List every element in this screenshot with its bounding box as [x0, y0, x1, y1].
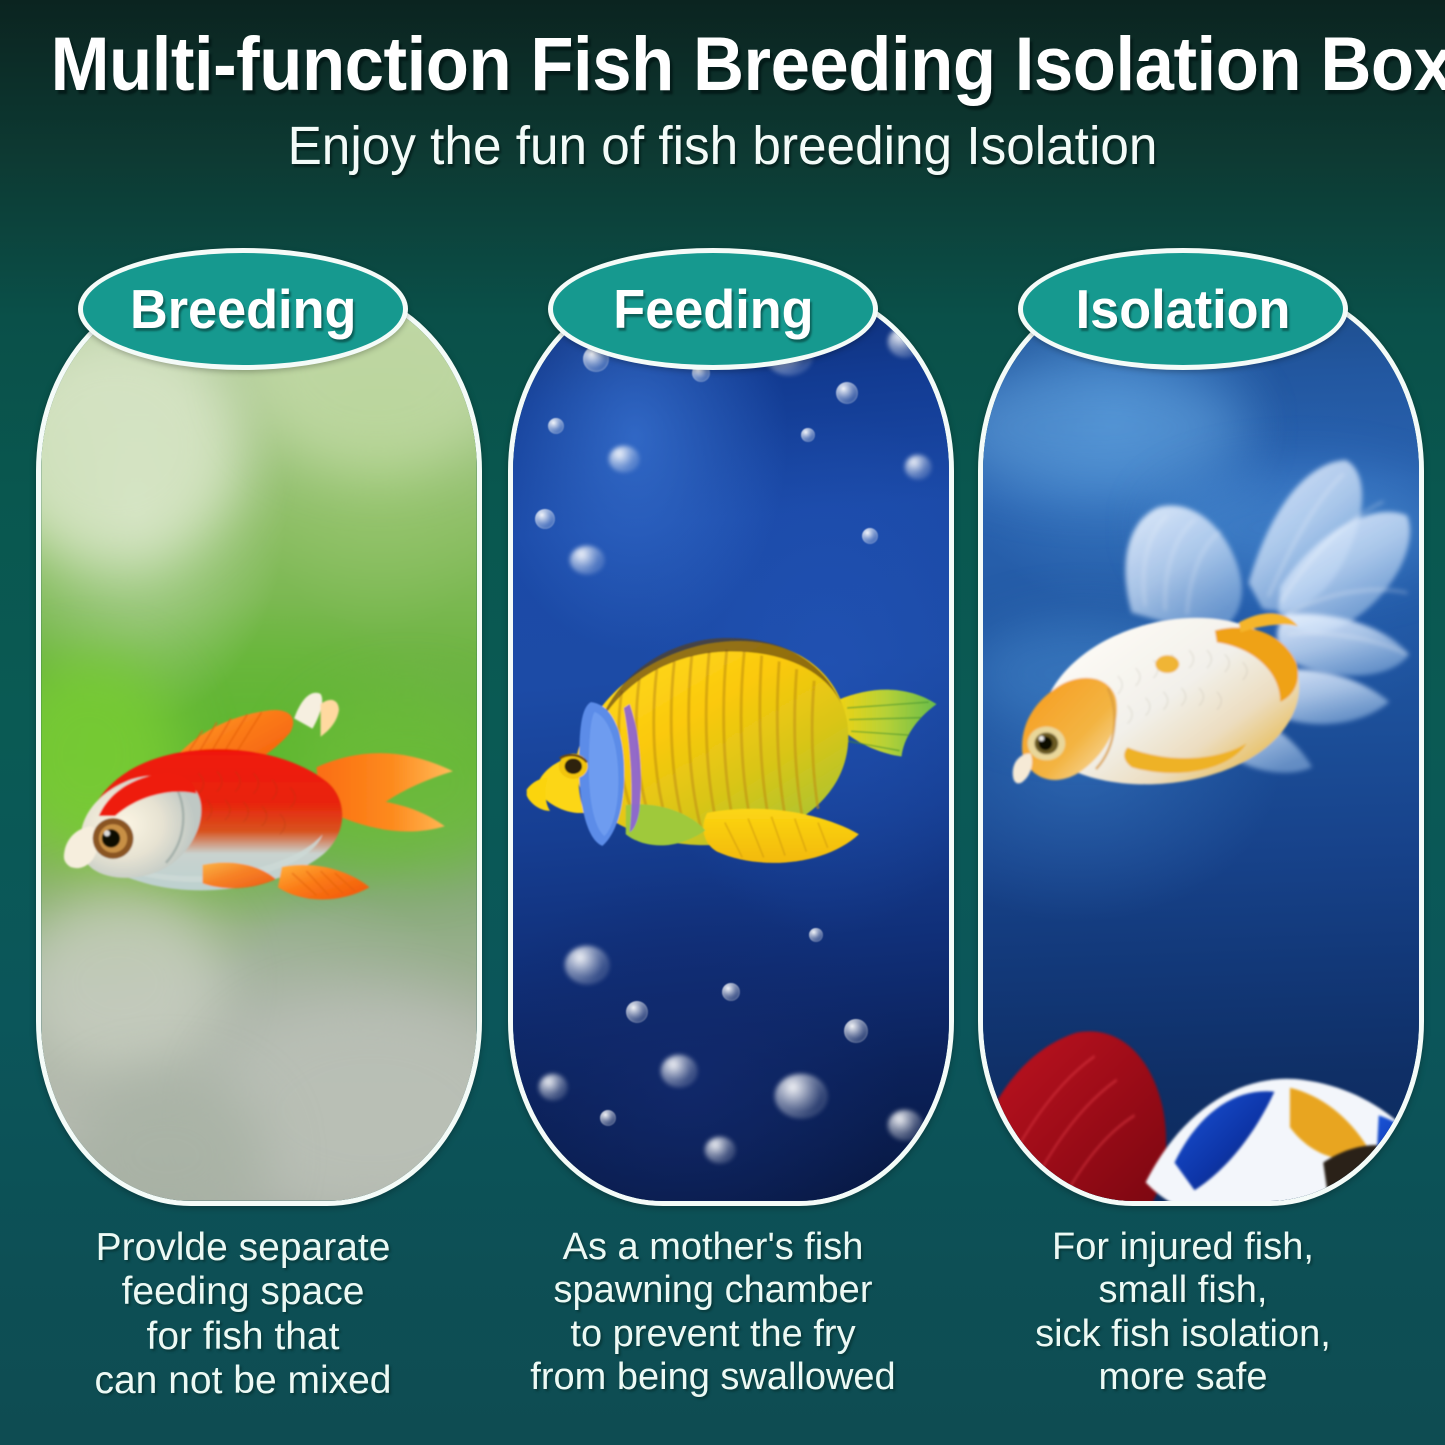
photo-capsule-isolation — [978, 286, 1424, 1206]
feature-column-feeding: Feeding As a mother's fish spawning cham… — [478, 248, 948, 1438]
badge-feeding[interactable]: Feeding — [548, 248, 878, 370]
aquarium-green-scene — [41, 291, 477, 1201]
feature-column-breeding: Breeding Provlde separate feeding space … — [8, 248, 478, 1438]
caption-breeding: Provlde separate feeding space for fish … — [8, 1226, 478, 1404]
butterflyfish-illustration — [517, 546, 944, 928]
badge-label: Feeding — [613, 282, 813, 337]
photo-capsule-feeding — [508, 286, 954, 1206]
aquarium-blue-scene-2 — [983, 291, 1419, 1201]
badge-breeding[interactable]: Breeding — [78, 248, 408, 370]
page-subtitle: Enjoy the fun of fish breeding Isolation — [36, 104, 1409, 175]
photo-capsule-breeding — [36, 286, 482, 1206]
caption-feeding: As a mother's fish spawning chamber to p… — [478, 1226, 948, 1399]
betta-fish-illustration — [983, 1001, 1419, 1201]
feature-columns: Breeding Provlde separate feeding space … — [0, 248, 1445, 1438]
goldfish-illustration — [50, 546, 477, 1056]
header: Multi-function Fish Breeding Isolation B… — [0, 0, 1445, 174]
badge-isolation[interactable]: Isolation — [1018, 248, 1348, 370]
product-infographic: Multi-function Fish Breeding Isolation B… — [0, 0, 1445, 1445]
fantail-goldfish-illustration — [983, 346, 1419, 947]
page-title: Multi-function Fish Breeding Isolation B… — [51, 0, 1395, 104]
aquarium-blue-scene — [513, 291, 949, 1201]
feature-column-isolation: Isolation For injured fish, small fish, … — [948, 248, 1418, 1438]
badge-label: Breeding — [130, 282, 356, 337]
badge-label: Isolation — [1076, 282, 1291, 337]
caption-isolation: For injured fish, small fish, sick fish … — [948, 1226, 1418, 1399]
